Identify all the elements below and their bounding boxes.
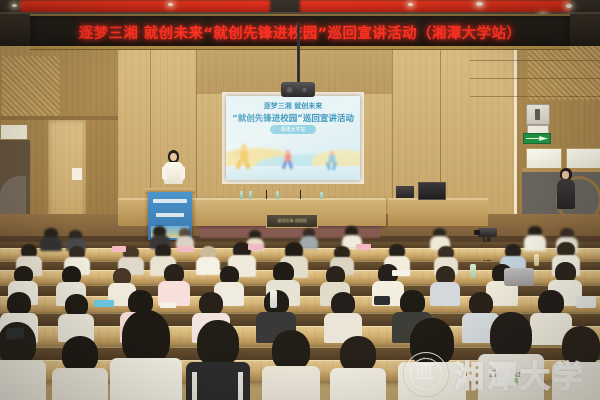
tshirt-graphic-leaf [506,378,518,387]
phone-on-desk [374,296,390,305]
projector-mount-pole [297,22,300,84]
audience-torso [430,282,460,306]
screen-glare [226,96,360,180]
presenter-head [170,153,177,161]
water-bottle-on-desk [270,290,277,308]
presenter-arm [162,166,167,180]
head-table-right-section [388,198,488,226]
jacket-stripe [238,372,243,400]
podium-banner-line2 [156,213,184,217]
audience-torso [398,362,466,400]
laptop-on-table [396,186,414,198]
pink-notice-card [356,244,371,250]
projector-lens [285,85,294,94]
air-conditioner-unit [526,104,550,125]
audience-torso [262,366,320,400]
projection-screen: 逐梦三湘 就创未来 “就创先锋进校园”巡回宣讲活动 湘潭大学站 [226,96,360,180]
panel-divider [514,22,517,222]
led-banner: 逐梦三湘 就创未来“就创先锋进校园”巡回宣讲活动（湘潭大学站） [30,14,570,50]
standing-attendee-torso [557,179,575,209]
audience-hair [340,336,376,372]
wall-slat [470,78,600,79]
pink-notice-card [178,246,194,252]
podium-banner-line1 [153,199,187,203]
ac-vent [535,109,540,120]
right-pilaster [470,22,514,222]
audience-member [40,228,62,248]
audience-member [52,336,108,400]
acoustic-panel-left [2,56,60,116]
monitor-on-table [418,182,446,200]
table-name-plaque: 就创先锋 进校园 [266,214,318,228]
audience-hair [199,292,223,315]
ceiling-downlight [12,4,17,7]
exit-arrow-icon [526,136,548,141]
left-white-panel [0,124,28,140]
led-banner-text: 逐梦三湘 就创未来“就创先锋进校园”巡回宣讲活动（湘潭大学站） [30,16,570,48]
audience-torso [330,368,386,400]
camera-lens [474,230,480,235]
audience-member [430,266,460,300]
wall-slat [470,96,600,97]
audience-hair [62,336,98,372]
audience-member: The Da [478,312,544,400]
audience-member [150,226,170,246]
microphone-stand [300,190,301,199]
water-bottle [276,191,279,199]
audience-hair [400,290,425,314]
audience-hair [272,330,310,370]
paper-on-desk [392,270,410,276]
audience-hair [562,326,600,366]
tablet-on-desk [576,296,596,308]
window-right [566,148,600,170]
ceiling-downlight [566,4,572,8]
audience-hair [331,292,355,315]
audience-torso [110,358,182,400]
banner-right-cap [570,14,600,46]
notebook-on-desk [94,300,114,307]
audience-member [186,320,250,400]
ceiling-downlight [168,3,173,6]
camera-body [478,228,497,237]
left-door-notice [72,168,82,180]
audience-hair [490,312,532,358]
audience-member [552,326,600,400]
audience-torso [524,235,546,251]
audience-torso [552,362,600,400]
audience-hair [65,294,88,316]
audience-torso [52,368,108,400]
audience-member [110,310,182,400]
photo-canvas: 逐梦三湘 就创未来“就创先锋进校园”巡回宣讲活动（湘潭大学站） 逐梦三湘 就创未… [0,0,600,400]
water-bottle [249,191,252,199]
standing-attendee [556,168,576,220]
audience-hair [197,320,239,366]
audience-hair [273,262,294,282]
water-bottle-on-desk [534,254,539,266]
window-left [526,148,562,170]
standing-attendee-face [562,171,569,179]
audience-member [176,228,194,246]
audience-hair [555,262,576,282]
pink-notice-card [248,244,263,250]
audience-member [398,318,466,400]
audience-torso [0,360,46,400]
audience-member [262,330,320,400]
table-plaque-text: 就创先锋 进校园 [267,215,317,227]
jacket-stripe [192,372,197,400]
audience-member [158,264,190,300]
audience-hair [7,292,31,315]
pink-notice-card [112,246,126,252]
audience-hair [410,318,454,366]
water-bottle [320,192,323,199]
presenter-arm [180,166,185,180]
audience-member [430,228,450,247]
ceiling-projector [281,82,315,97]
ceiling-downlight [408,3,413,6]
presenter [162,150,184,194]
audience-hair [122,310,170,364]
smartphone-on-desk [5,327,24,340]
audience-member [330,336,386,400]
water-bottle-on-desk [470,264,476,278]
audience-member [324,292,362,336]
banner-left-cap [0,14,30,46]
paper-on-desk [160,302,176,308]
audience-member [524,226,546,248]
audience-torso [40,237,62,251]
exit-sign [523,133,551,144]
projector-lens-secondary [301,86,308,93]
water-bottle [240,191,243,199]
wall-slat [470,60,600,61]
handbag-on-desk [504,268,534,286]
banner-bottom-trim [30,46,570,49]
microphone-stand [266,190,267,199]
audience-member [58,294,94,336]
audience-member [342,226,362,246]
ceiling-downlight [476,2,483,6]
